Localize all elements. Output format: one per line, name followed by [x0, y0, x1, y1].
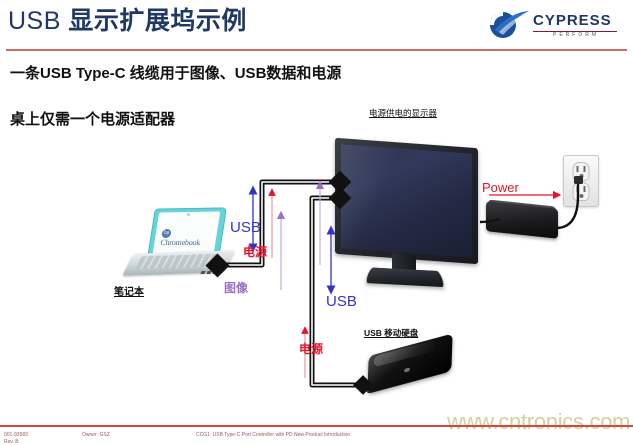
socket-ground: [579, 194, 583, 198]
label-power-bottom: 电源: [299, 340, 323, 357]
page-title-main: 显示扩展坞示例: [68, 7, 247, 35]
socket-slot-right: [584, 166, 586, 172]
page-title-prefix: USB: [8, 7, 68, 35]
usb-hard-drive: [360, 345, 452, 397]
laptop-brand-logo: hpChromebook: [161, 226, 213, 240]
laptop-brand-text: Chromebook: [160, 238, 201, 247]
label-usb-top: USB: [230, 219, 261, 236]
footer-owner: Owner: GSZ: [82, 432, 110, 438]
cypress-logo: CYPRESS PERFORM: [477, 6, 627, 44]
cypress-wordmark: CYPRESS: [533, 12, 612, 29]
hp-logo-icon: hp: [161, 229, 171, 238]
wall-outlet: [563, 155, 599, 207]
laptop-chromebook: hpChromebook: [129, 208, 231, 280]
label-power-top: 电源: [243, 243, 267, 260]
socket-slot-left: [577, 186, 579, 192]
laptop-webcam-icon: [187, 213, 190, 216]
monitor-glare: [341, 144, 472, 258]
label-video: 图像: [224, 279, 248, 296]
socket-slot-right: [584, 186, 586, 192]
power-adapter: [486, 201, 558, 239]
label-laptop: 笔记本: [114, 283, 144, 298]
bullet-line-2: 桌上仅需一个电源适配器: [10, 108, 175, 129]
label-usb-hard-drive: USB 移动硬盘: [364, 327, 418, 339]
label-usb-bottom: USB: [326, 293, 357, 310]
label-power-english: Power: [482, 180, 519, 195]
footer-subject: CCG1: USB Type-C Port Controller with PD…: [196, 432, 350, 438]
socket-slot-left: [577, 166, 579, 172]
monitor-screen: [341, 144, 472, 258]
label-monitor: 电源供电的显示器: [369, 107, 437, 119]
page-title: USB 显示扩展坞示例: [8, 6, 247, 36]
outlet-socket-top: [573, 162, 590, 181]
socket-ground: [579, 174, 583, 178]
bullet-line-1: 一条USB Type-C 线缆用于图像、USB数据和电源: [10, 62, 341, 83]
outlet-socket-bottom: [573, 182, 590, 201]
footer-doc-id: 001-93583: [4, 432, 28, 438]
laptop-ports-icon: [200, 271, 220, 274]
footer-divider: [0, 425, 633, 427]
monitor-base: [365, 267, 445, 287]
footer-rev: Rev. B: [4, 439, 19, 445]
header-divider: [6, 49, 627, 51]
footer: 001-93583 Owner: GSZ CCG1: USB Type-C Po…: [0, 430, 633, 445]
slide-canvas: USB 显示扩展坞示例 CYPRESS PERFORM 一条USB Type-C…: [0, 0, 633, 445]
cypress-tagline: PERFORM: [553, 32, 599, 38]
cypress-swoosh-icon: [485, 10, 531, 40]
